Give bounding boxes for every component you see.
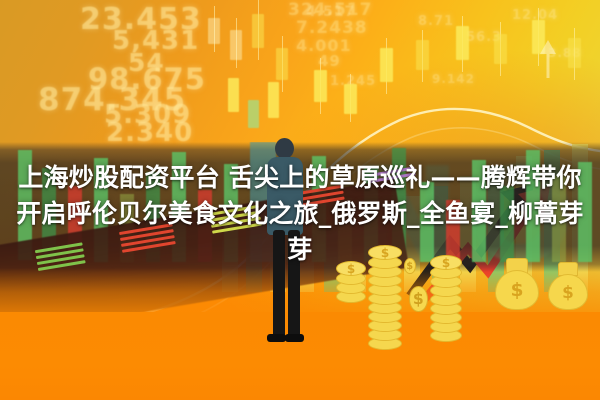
ghost-number: 12.04 [512,8,558,23]
ghost-number: 54 [128,48,165,77]
silhouette-head [275,138,294,159]
silhouette-shoe-right [285,334,304,342]
ghost-number: 49 [318,52,341,70]
headline-line-2: 开启呼伦贝尔美食文化之旅_俄罗斯_全鱼宴_柳蒿芽 [0,196,600,232]
ghost-number: 5,431 [112,26,199,56]
ghost-number: 5.309 [104,100,191,130]
ghost-number: 3.88 [548,46,582,60]
ghost-number: 4.001 [296,36,352,55]
finance-banner: 23.4535,4315498.675874.3455.3092.340324.… [0,0,600,400]
ghost-number: 4.517 [306,4,355,20]
ghost-number: 98.675 [88,62,206,96]
ghost-number: 1.245 [330,74,376,89]
headline-line-1: 上海炒股配资平台 舌尖上的草原巡礼——腾辉带你 [0,160,600,196]
silhouette-shoe-left [267,334,286,342]
ghost-number: 7.2438 [296,18,368,38]
ghost-number: 23.453 [80,2,202,37]
ghost-number: 8.71 [418,14,454,29]
ghost-number: 56.3 [466,30,502,45]
headline-text: 上海炒股配资平台 舌尖上的草原巡礼——腾辉带你 开启呼伦贝尔美食文化之旅_俄罗斯… [0,160,600,268]
ghost-number: 9.142 [432,72,475,86]
ghost-number: 874.345 [38,82,186,118]
arrow-small-outline [540,40,556,78]
ghost-number: 324.517 [288,0,372,20]
headline-line-3: 芽 [0,232,600,268]
